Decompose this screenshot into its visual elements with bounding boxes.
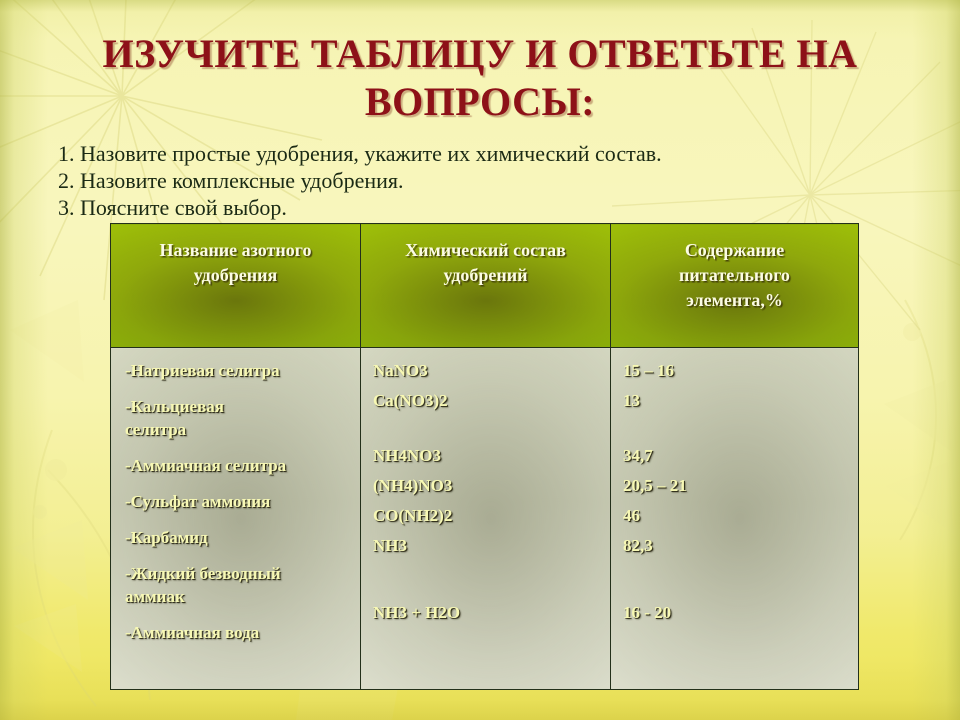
- table-header-cell-name: Название азотного удобрения: [111, 224, 361, 348]
- list-item: Ca(NO3)2: [373, 390, 604, 411]
- header-content-line-1: Содержание: [619, 238, 850, 263]
- list-item: -Кальциевая: [125, 396, 354, 417]
- formulas-list: NaNO3 Ca(NO3)2 NH4NO3 (NH4)NO3 CO(NH2)2 …: [361, 360, 610, 623]
- list-item: 16 - 20: [623, 602, 852, 623]
- names-list: -Натриевая селитра -Кальциевая селитра -…: [111, 360, 360, 643]
- table-cell-names: -Натриевая селитра -Кальциевая селитра -…: [111, 348, 361, 690]
- list-item: 34,7: [623, 445, 852, 466]
- list-item: -Карбамид: [125, 527, 354, 548]
- list-item: -Аммиачная вода: [125, 622, 354, 643]
- list-item: NH3 + H2O: [373, 602, 604, 623]
- list-item: 20,5 – 21: [623, 475, 852, 496]
- header-name-line-2: удобрения: [119, 263, 352, 288]
- list-item: 13: [623, 390, 852, 411]
- list-item: NH3: [373, 535, 604, 556]
- list-item: 82,3: [623, 535, 852, 556]
- header-content-line-3: элемента,%: [619, 288, 850, 313]
- header-name-line-1: Название азотного: [119, 238, 352, 263]
- list-item: -Жидкий безводный: [125, 563, 354, 584]
- header-content-line-2: питательного: [619, 263, 850, 288]
- list-item: CO(NH2)2: [373, 505, 604, 526]
- list-item: -Натриевая селитра: [125, 360, 354, 381]
- questions-list: 1. Назовите простые удобрения, укажите и…: [58, 140, 662, 221]
- slide: ИЗУЧИТЕ ТАБЛИЦУ И ОТВЕТЬТЕ НА ВОПРОСЫ: 1…: [0, 0, 960, 720]
- list-item: 15 – 16: [623, 360, 852, 381]
- list-item: аммиак: [125, 586, 354, 607]
- contents-list: 15 – 16 13 34,7 20,5 – 21 46 82,3 16 - 2…: [611, 360, 858, 623]
- header-formula-line-1: Химический состав: [369, 238, 602, 263]
- fertilizer-table: Название азотного удобрения Химический с…: [110, 223, 859, 690]
- list-item: NaNO3: [373, 360, 604, 381]
- title-line-2: ВОПРОСЫ:: [0, 78, 960, 126]
- table-cell-contents: 15 – 16 13 34,7 20,5 – 21 46 82,3 16 - 2…: [611, 348, 859, 690]
- table-body-row: -Натриевая селитра -Кальциевая селитра -…: [111, 348, 859, 690]
- page-title: ИЗУЧИТЕ ТАБЛИЦУ И ОТВЕТЬТЕ НА ВОПРОСЫ:: [0, 30, 960, 126]
- list-item: (NH4)NO3: [373, 475, 604, 496]
- list-item: селитра: [125, 419, 354, 440]
- table-cell-formulas: NaNO3 Ca(NO3)2 NH4NO3 (NH4)NO3 CO(NH2)2 …: [361, 348, 611, 690]
- title-line-1: ИЗУЧИТЕ ТАБЛИЦУ И ОТВЕТЬТЕ НА: [0, 30, 960, 78]
- list-item: -Аммиачная селитра: [125, 455, 354, 476]
- table-header-cell-formula: Химический состав удобрений: [361, 224, 611, 348]
- question-item-2: 2. Назовите комплексные удобрения.: [58, 167, 662, 194]
- table-header-cell-content: Содержание питательного элемента,%: [611, 224, 859, 348]
- table-header-row: Название азотного удобрения Химический с…: [111, 224, 859, 348]
- question-item-1: 1. Назовите простые удобрения, укажите и…: [58, 140, 662, 167]
- header-formula-line-2: удобрений: [369, 263, 602, 288]
- list-item: 46: [623, 505, 852, 526]
- question-item-3: 3. Поясните свой выбор.: [58, 194, 662, 221]
- list-item: NH4NO3: [373, 445, 604, 466]
- list-item: -Сульфат аммония: [125, 491, 354, 512]
